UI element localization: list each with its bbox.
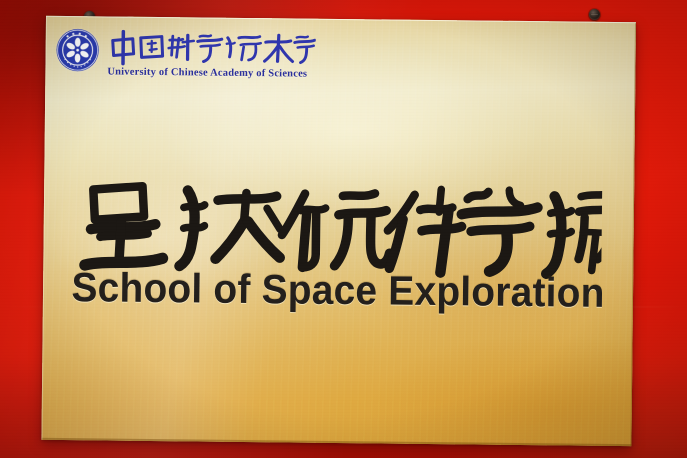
university-wordmark: University of Chinese Academy of Science… <box>107 28 316 79</box>
ucas-seal-logo-icon <box>55 28 99 72</box>
plaque-title-english: School of Space Exploration <box>58 264 619 317</box>
brand-chinese-calligraphy <box>107 29 315 67</box>
university-header: University of Chinese Academy of Science… <box>55 28 316 80</box>
brand-english-subtitle: University of Chinese Academy of Science… <box>107 66 315 79</box>
screw-top-right <box>589 9 600 20</box>
brass-plaque: University of Chinese Academy of Science… <box>41 16 636 446</box>
plaque-photo-scene: University of Chinese Academy of Science… <box>0 0 687 458</box>
